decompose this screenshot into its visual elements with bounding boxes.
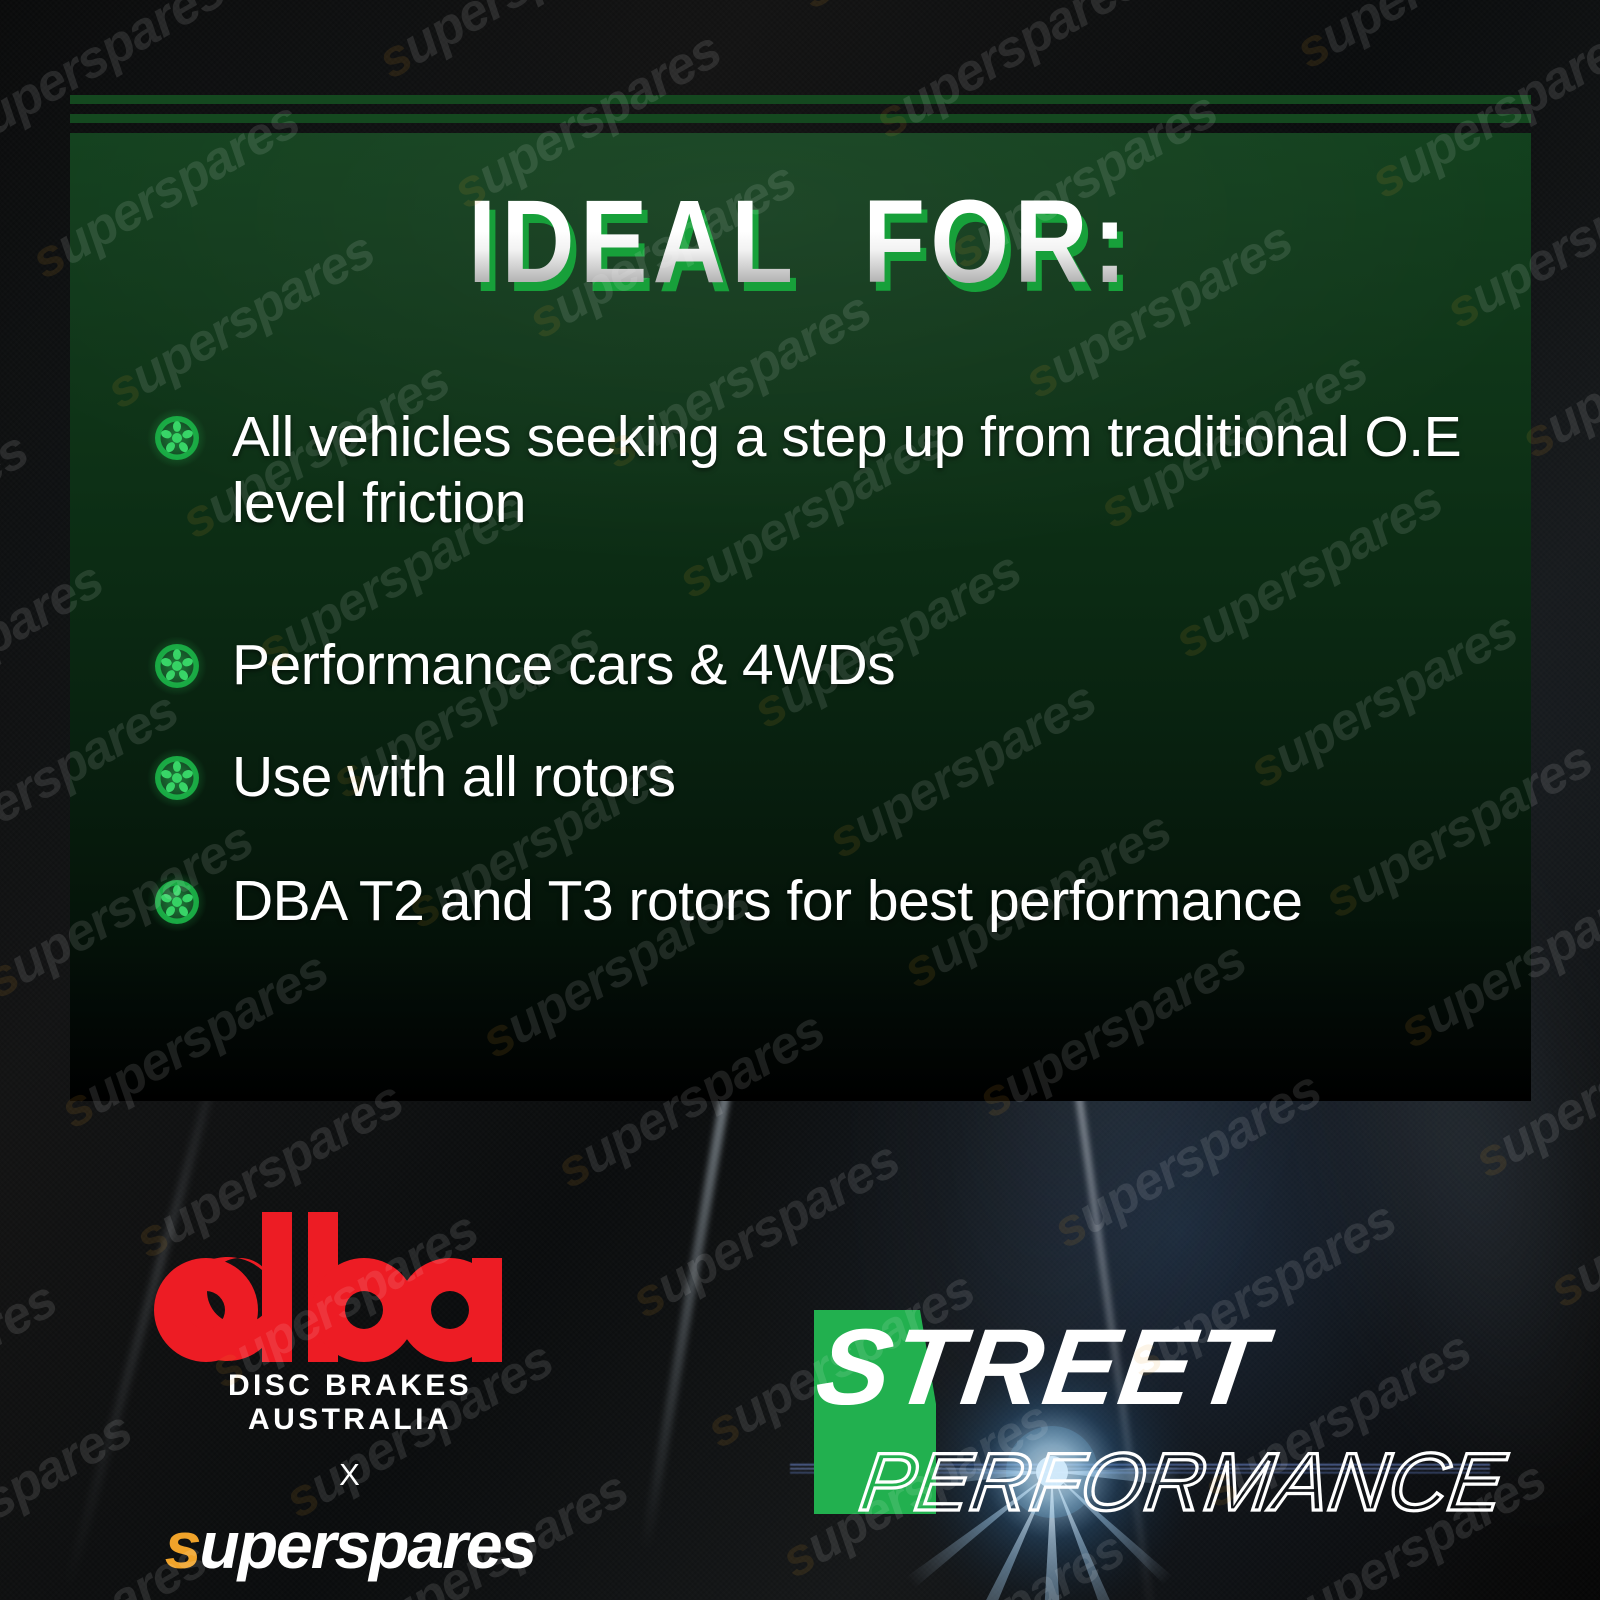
wheel-rotor-icon	[152, 641, 202, 691]
top-accent-rule	[70, 95, 1531, 104]
wheel-rotor-icon	[152, 753, 202, 803]
dba-tagline: DISC BRAKES AUSTRALIA	[130, 1369, 570, 1437]
second-accent-rule	[70, 114, 1531, 123]
promo-banner: IDEAL FOR: IDEAL FOR:	[0, 0, 1600, 1600]
wheel-rotor-icon	[152, 877, 202, 927]
svg-text:PERFORMANCE: PERFORMANCE	[855, 1436, 1512, 1528]
list-item-label: Use with all rotors	[232, 744, 1512, 810]
page-title: IDEAL FOR: IDEAL FOR:	[0, 183, 1600, 301]
list-item: Performance cars & 4WDs	[152, 632, 1512, 698]
dba-logo	[150, 1212, 550, 1362]
collab-separator: X	[130, 1457, 570, 1493]
dba-superspares-lockup: DISC BRAKES AUSTRALIA X superspares	[130, 1212, 570, 1579]
list-item-label: Performance cars & 4WDs	[232, 632, 1512, 698]
list-item-label: DBA T2 and T3 rotors for best performanc…	[232, 868, 1512, 934]
list-item: DBA T2 and T3 rotors for best performanc…	[152, 868, 1512, 934]
wheel-rotor-icon	[152, 413, 202, 463]
svg-text:STREET: STREET	[810, 1307, 1280, 1427]
list-item-label: All vehicles seeking a step up from trad…	[232, 404, 1512, 536]
list-item: All vehicles seeking a step up from trad…	[152, 404, 1512, 536]
street-performance-logo: STREET PERFORMANCE	[772, 1292, 1532, 1542]
list-item: Use with all rotors	[152, 744, 1512, 810]
superspares-logo-text: uperspares	[199, 1508, 535, 1582]
street-performance-wordmark: STREET PERFORMANCE	[772, 1292, 1532, 1542]
superspares-logo: superspares	[130, 1507, 570, 1579]
feature-list: All vehicles seeking a step up from trad…	[152, 404, 1512, 935]
page-title-text: IDEAL FOR:	[468, 176, 1132, 308]
superspares-logo-initial: s	[165, 1508, 200, 1582]
